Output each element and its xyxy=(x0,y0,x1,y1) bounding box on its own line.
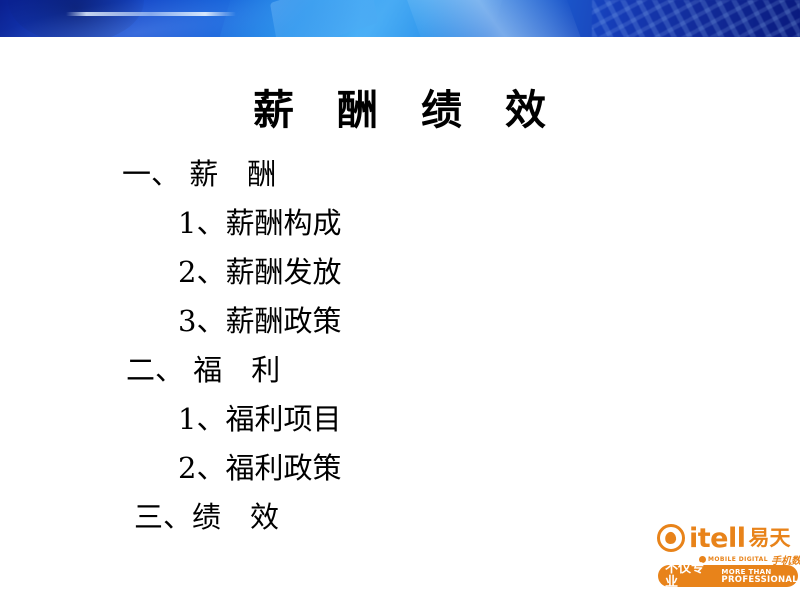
banner-sheen-highlight xyxy=(405,0,588,37)
outline-item-1-2: 2、薪酬发放 xyxy=(0,248,800,297)
logo-brand-en: itell xyxy=(689,525,745,552)
tagline-en-line2: PROFESSIONAL xyxy=(721,576,798,585)
header-banner-image xyxy=(0,0,800,37)
itell-circle-icon xyxy=(657,524,685,552)
outline-item-1: 一、 薪 酬 xyxy=(0,150,800,199)
banner-keypad-texture xyxy=(592,0,800,37)
slide-outline-list: 一、 薪 酬 1、薪酬构成 2、薪酬发放 3、薪酬政策 二、 福 利 1、福利项… xyxy=(0,150,800,542)
company-logo: itell 易天 MOBILE DIGITAL 手机数码 不仅专业 MORE T… xyxy=(655,522,800,592)
outline-item-1-3: 3、薪酬政策 xyxy=(0,297,800,346)
tagline-en: MORE THAN PROFESSIONAL xyxy=(721,568,798,585)
outline-item-2-1: 1、福利项目 xyxy=(0,395,800,444)
outline-item-2-2: 2、福利政策 xyxy=(0,444,800,493)
banner-caption-text xyxy=(66,12,236,16)
outline-item-1-1: 1、薪酬构成 xyxy=(0,199,800,248)
tagline-cn: 不仅专业 xyxy=(665,562,716,590)
logo-brand-cn: 易天 xyxy=(748,527,790,549)
outline-item-2: 二、 福 利 xyxy=(0,346,800,395)
logo-primary-row: itell 易天 xyxy=(657,524,790,552)
slide-title: 薪 酬 绩 效 xyxy=(0,76,800,136)
logo-tagline-pill: 不仅专业 MORE THAN PROFESSIONAL xyxy=(658,565,798,587)
logo-sub-en: MOBILE DIGITAL xyxy=(708,556,768,563)
